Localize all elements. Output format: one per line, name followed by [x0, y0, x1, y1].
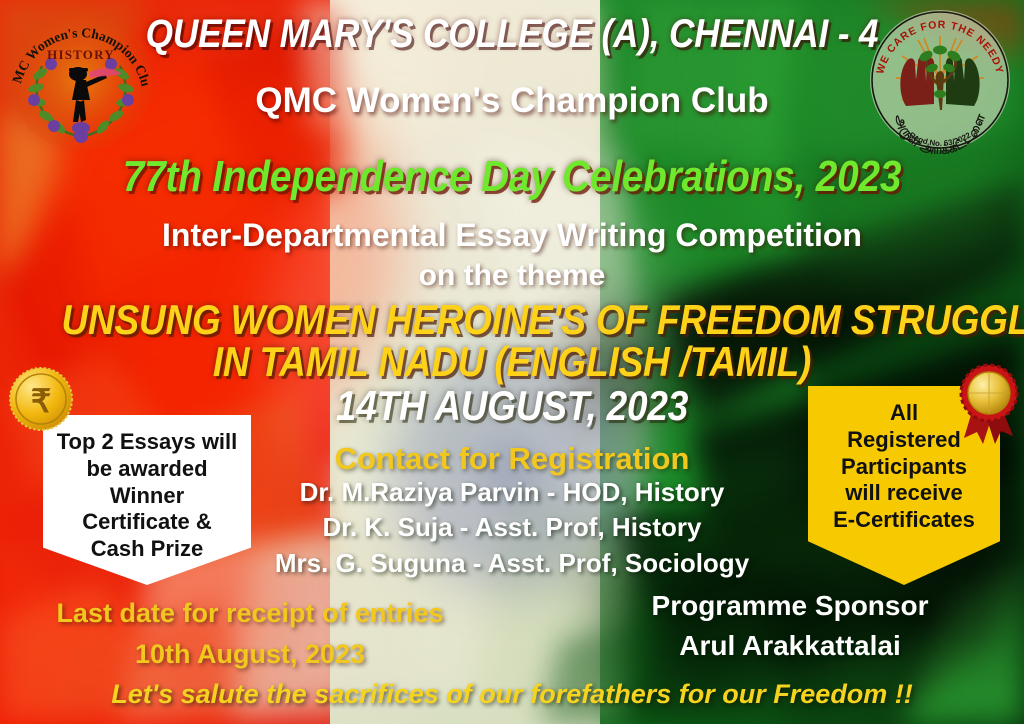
prize-banner-line-1: Top 2 Essays will — [57, 429, 238, 456]
gold-rosette-icon — [958, 362, 1020, 448]
theme-label: on the theme — [0, 261, 1024, 291]
prize-banner-line-5: Cash Prize — [91, 536, 204, 563]
theme-line-2: IN TAMIL NADU (ENGLISH /TAMIL) — [61, 341, 962, 383]
certificate-banner-line-5: E-Certificates — [833, 507, 975, 534]
competition-name: Inter-Departmental Essay Writing Competi… — [0, 219, 1024, 251]
prize-banner-line-4: Certificate & — [82, 509, 212, 536]
deadline-line-2: 10th August, 2023 — [10, 641, 490, 668]
prize-banner-line-3: Winner — [110, 483, 184, 510]
gold-rosette-icon-graphic — [958, 362, 1020, 448]
contact-person-3: Mrs. G. Suguna - Asst. Prof, Sociology — [180, 550, 844, 576]
svg-text:₹: ₹ — [31, 383, 51, 419]
contact-person-2: Dr. K. Suja - Asst. Prof, History — [180, 514, 844, 540]
contact-heading: Contact for Registration — [190, 443, 834, 474]
rupee-coin-icon-graphic: ₹ — [8, 366, 74, 432]
theme-line-1: UNSUNG WOMEN HEROINE'S OF FREEDOM STRUGG… — [61, 299, 962, 341]
sponsor-name: Arul Arakkattalai — [560, 632, 1020, 660]
sponsor-label: Programme Sponsor — [560, 592, 1020, 620]
headline-independence-day: 77th Independence Day Celebrations, 2023 — [61, 155, 962, 199]
subtitle-club: QMC Women's Champion Club — [0, 83, 1024, 118]
poster-canvas: QMC Women's Champion Club — [0, 0, 1024, 724]
certificate-banner-line-2: Registered — [847, 427, 961, 454]
page-title-college: QUEEN MARY'S COLLEGE (A), CHENNAI - 4 — [61, 14, 962, 54]
prize-banner-line-2: be awarded — [86, 456, 207, 483]
certificate-banner-line-1: All — [890, 400, 918, 427]
contact-person-1: Dr. M.Raziya Parvin - HOD, History — [180, 479, 844, 505]
certificate-banner-line-4: will receive — [845, 480, 962, 507]
certificate-banner-line-3: Participants — [841, 454, 967, 481]
deadline-line-1: Last date for receipt of entries — [10, 600, 490, 627]
rupee-coin-icon: ₹ — [8, 366, 74, 432]
closing-slogan: Let's salute the sacrifices of our foref… — [0, 681, 1024, 708]
